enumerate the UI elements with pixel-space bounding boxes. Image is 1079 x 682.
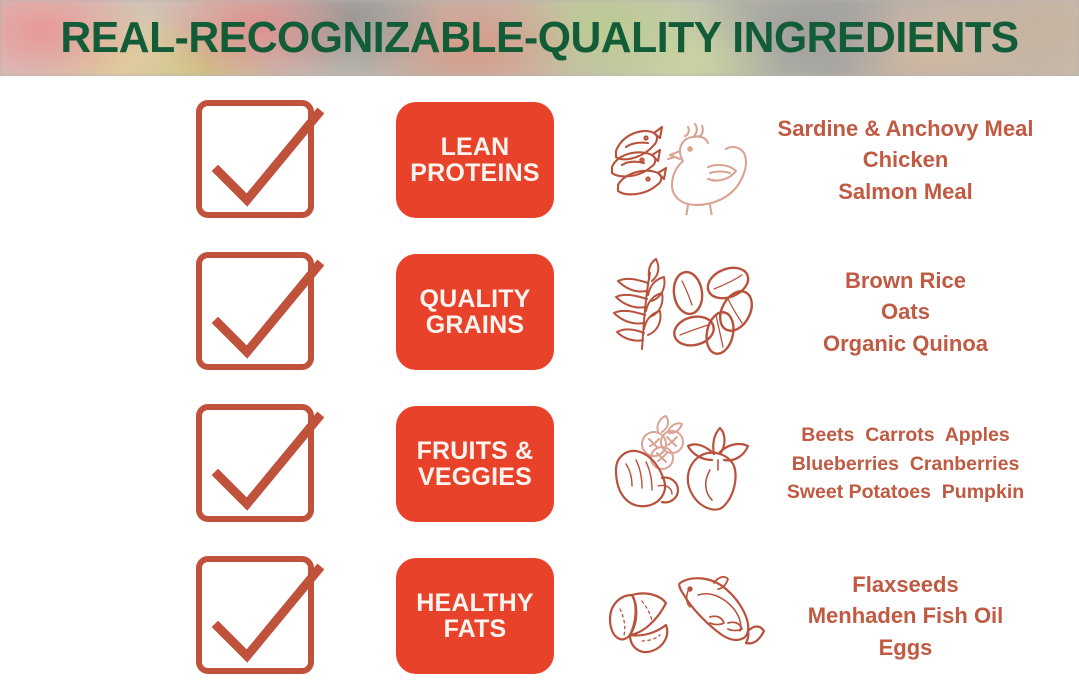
flaxseeds-and-fish-icon	[598, 561, 766, 671]
fish-and-chicken-icon	[602, 105, 762, 215]
checkbox-healthy-fats[interactable]	[196, 556, 314, 674]
ingredient-row: HEALTHY FATS	[0, 540, 1079, 682]
icon-cell	[596, 105, 768, 215]
ingredient-line: Salmon Meal	[838, 176, 972, 207]
ingredient-list: Brown Rice Oats Organic Quinoa	[768, 265, 1079, 359]
badge-line-2: PROTEINS	[410, 160, 539, 186]
ingredient-line: Eggs	[879, 632, 933, 663]
badge-line-1: LEAN	[441, 134, 510, 160]
checkbox-lean-proteins[interactable]	[196, 100, 314, 218]
checkmark-icon	[200, 542, 330, 682]
badge-cell: FRUITS & VEGGIES	[396, 406, 564, 522]
ingredient-line: Brown Rice	[845, 265, 966, 296]
ingredient-list: Beets Carrots Apples Blueberries Cranber…	[768, 421, 1079, 508]
badge-quality-grains[interactable]: QUALITY GRAINS	[396, 254, 554, 370]
badge-cell: LEAN PROTEINS	[396, 102, 564, 218]
ingredient-line: Blueberries Cranberries	[792, 450, 1020, 479]
icon-cell	[596, 561, 768, 671]
ingredient-line: Sweet Potatoes Pumpkin	[787, 478, 1024, 507]
badge-line-2: FATS	[444, 616, 507, 642]
ingredient-line: Sardine & Anchovy Meal	[778, 113, 1034, 144]
ingredient-row: FRUITS & VEGGIES	[0, 388, 1079, 540]
badge-lean-proteins[interactable]: LEAN PROTEINS	[396, 102, 554, 218]
badge-cell: QUALITY GRAINS	[396, 254, 564, 370]
checkbox-cell	[196, 388, 396, 540]
badge-fruits-veggies[interactable]: FRUITS & VEGGIES	[396, 406, 554, 522]
infographic-page: REAL-RECOGNIZABLE-QUALITY INGREDIENTS LE…	[0, 0, 1079, 682]
sweet-potato-berries-beet-icon	[602, 408, 762, 520]
checkbox-quality-grains[interactable]	[196, 252, 314, 370]
page-title: REAL-RECOGNIZABLE-QUALITY INGREDIENTS	[16, 13, 1063, 63]
icon-cell	[596, 257, 768, 367]
checkbox-fruits-veggies[interactable]	[196, 404, 314, 522]
ingredient-list: Flaxseeds Menhaden Fish Oil Eggs	[768, 569, 1079, 663]
ingredient-line: Flaxseeds	[852, 569, 958, 600]
ingredient-list: Sardine & Anchovy Meal Chicken Salmon Me…	[768, 113, 1079, 207]
ingredient-rows: LEAN PROTEINS	[0, 76, 1079, 682]
checkbox-cell	[196, 236, 396, 388]
ingredient-line: Menhaden Fish Oil	[808, 600, 1004, 631]
wheat-and-grains-icon	[602, 257, 762, 367]
ingredient-line: Oats	[881, 296, 930, 327]
checkmark-icon	[200, 390, 330, 530]
badge-line-2: GRAINS	[426, 312, 524, 338]
checkmark-icon	[200, 86, 330, 226]
badge-line-1: FRUITS &	[417, 438, 534, 464]
ingredient-line: Chicken	[863, 144, 949, 175]
checkbox-cell	[196, 84, 396, 236]
header-banner: REAL-RECOGNIZABLE-QUALITY INGREDIENTS	[0, 0, 1079, 76]
badge-line-1: QUALITY	[419, 286, 530, 312]
badge-line-1: HEALTHY	[416, 590, 534, 616]
badge-cell: HEALTHY FATS	[396, 558, 564, 674]
ingredient-row: QUALITY GRAINS	[0, 236, 1079, 388]
ingredient-line: Organic Quinoa	[823, 328, 988, 359]
ingredient-row: LEAN PROTEINS	[0, 84, 1079, 236]
checkmark-icon	[200, 238, 330, 378]
icon-cell	[596, 408, 768, 520]
ingredient-line: Beets Carrots Apples	[801, 421, 1009, 450]
badge-healthy-fats[interactable]: HEALTHY FATS	[396, 558, 554, 674]
badge-line-2: VEGGIES	[418, 464, 532, 490]
checkbox-cell	[196, 540, 396, 682]
